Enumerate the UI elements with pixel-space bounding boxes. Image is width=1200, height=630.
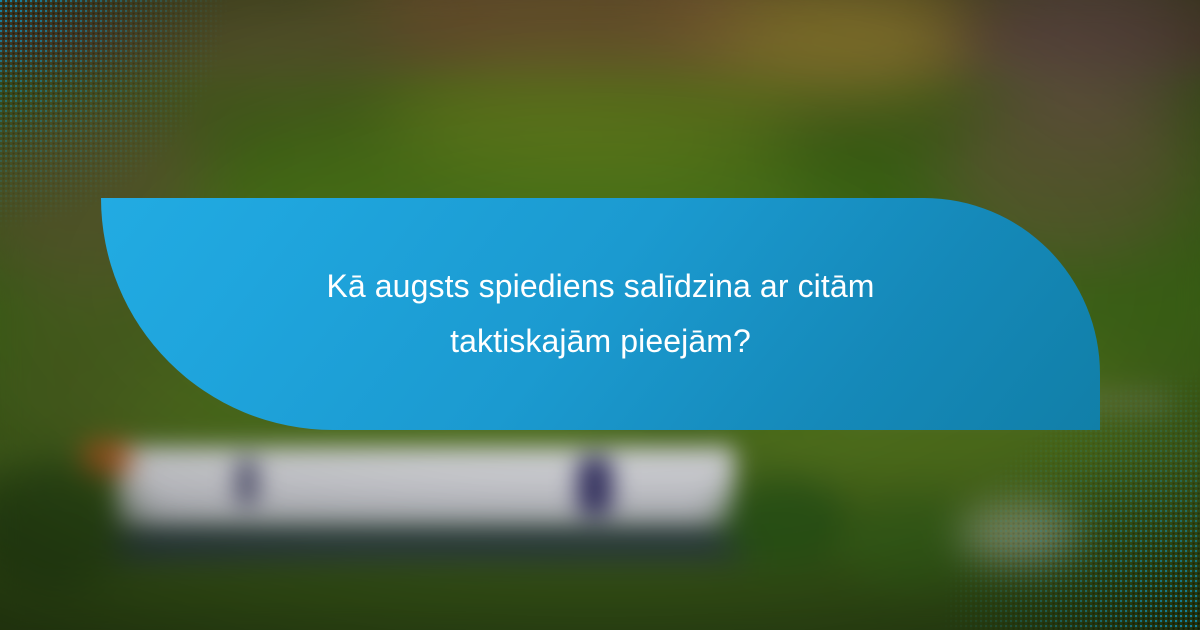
photo-blob — [380, 50, 800, 170]
photo-foliage — [720, 480, 850, 570]
photo-building — [115, 447, 735, 525]
photo-building-detail — [235, 458, 259, 506]
photo-light-spot — [960, 505, 1080, 565]
question-banner: Kā augsts spiediens salīdzina ar citām t… — [101, 198, 1100, 430]
photo-building-detail — [577, 456, 613, 516]
screenshot-canvas: Kā augsts spiediens salīdzina ar citām t… — [0, 0, 1200, 630]
photo-blob — [720, 0, 980, 80]
question-title: Kā augsts spiediens salīdzina ar citām t… — [301, 259, 900, 369]
